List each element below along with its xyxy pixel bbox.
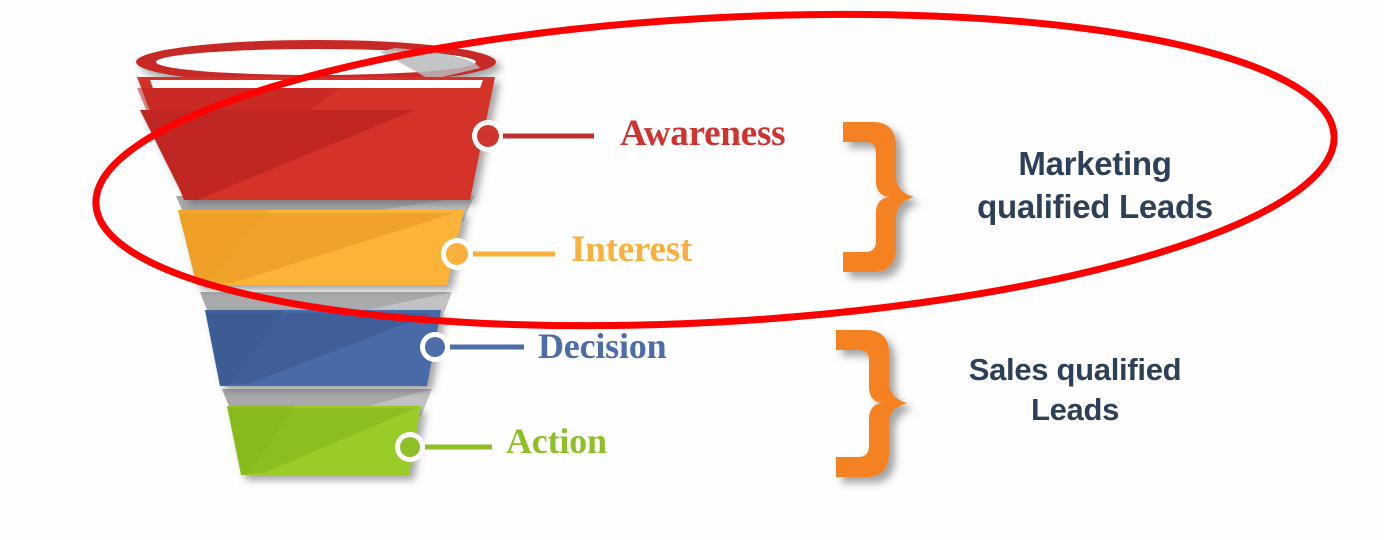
stage-leader-interest	[441, 238, 555, 270]
group-label-line: Leads	[910, 390, 1240, 430]
funnel-stage-action[interactable]	[227, 406, 421, 478]
stage-leader-action	[395, 432, 492, 462]
brace-glyph-icon	[836, 330, 907, 477]
stage-label-awareness[interactable]: Awareness	[620, 112, 785, 155]
group-label-line: Sales qualified	[910, 350, 1240, 390]
leader-dot-awareness	[477, 125, 499, 147]
leader-dot-action	[400, 437, 420, 457]
group-label-marketing-qualified-leads: Marketing qualified Leads	[930, 143, 1260, 229]
group-label-line: qualified Leads	[930, 186, 1260, 229]
stage-label-decision[interactable]: Decision	[538, 325, 666, 367]
stage-leader-decision	[420, 332, 524, 362]
funnel-diagram-canvas: Awareness Interest Decision Action Marke…	[0, 0, 1384, 540]
leader-dot-interest	[446, 243, 468, 265]
brace-sales-qualified-leads	[836, 330, 907, 477]
stage-label-action[interactable]: Action	[506, 420, 607, 462]
stage-leader-awareness	[472, 120, 594, 152]
group-label-sales-qualified-leads: Sales qualified Leads	[910, 350, 1240, 431]
funnel-stage-decision[interactable]	[205, 310, 441, 390]
funnel-stage-interest[interactable]	[178, 210, 464, 290]
brace-marketing-qualified-leads	[843, 122, 914, 272]
group-label-line: Marketing	[930, 143, 1260, 186]
leader-dot-decision	[425, 337, 445, 357]
funnel-stage-awareness[interactable]	[136, 40, 496, 205]
brace-glyph-icon	[843, 122, 914, 272]
stage-label-interest[interactable]: Interest	[571, 228, 692, 271]
